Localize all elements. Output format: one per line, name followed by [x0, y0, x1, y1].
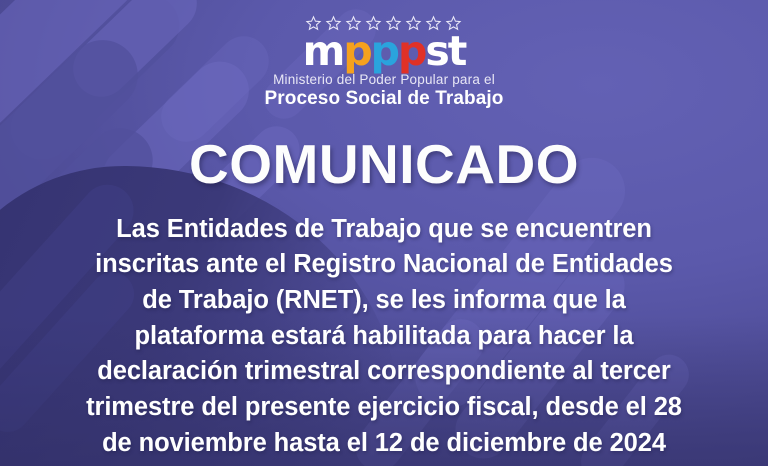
announcement-line: inscritas ante el Registro Nacional de E… — [59, 247, 709, 283]
wordmark-letter-p3: p — [398, 33, 425, 71]
announcement-line: de noviembre hasta el 12 de diciembre de… — [59, 426, 709, 462]
wordmark-letter-p1: p — [343, 33, 370, 71]
ministry-logo: m p p p st Ministerio del Poder Popular … — [264, 14, 503, 110]
wordmark-letter-p2: p — [371, 33, 398, 71]
wordmark-letters-st: st — [425, 33, 465, 71]
announcement-body: Las Entidades de Trabajo que se encuentr… — [59, 212, 709, 462]
announcement-line: plataforma estará habilitada para hacer … — [59, 319, 709, 355]
page-title: COMUNICADO — [189, 132, 579, 196]
ministry-subtitle-line2: Proceso Social de Trabajo — [264, 88, 503, 110]
announcement-line: de Trabajo (RNET), se les informa que la — [59, 283, 709, 319]
announcement-line: Las Entidades de Trabajo que se encuentr… — [59, 212, 709, 248]
announcement-line: declaración trimestral correspondiente a… — [59, 354, 709, 390]
ministry-subtitle-line1: Ministerio del Poder Popular para el — [273, 72, 495, 87]
poster-content: m p p p st Ministerio del Poder Popular … — [0, 0, 768, 466]
wordmark-letter-m: m — [303, 33, 344, 71]
announcement-line: trimestre del presente ejercicio fiscal,… — [59, 390, 709, 426]
comunicado-poster: m p p p st Ministerio del Poder Popular … — [0, 0, 768, 466]
mpppst-wordmark: m p p p st — [303, 33, 466, 71]
